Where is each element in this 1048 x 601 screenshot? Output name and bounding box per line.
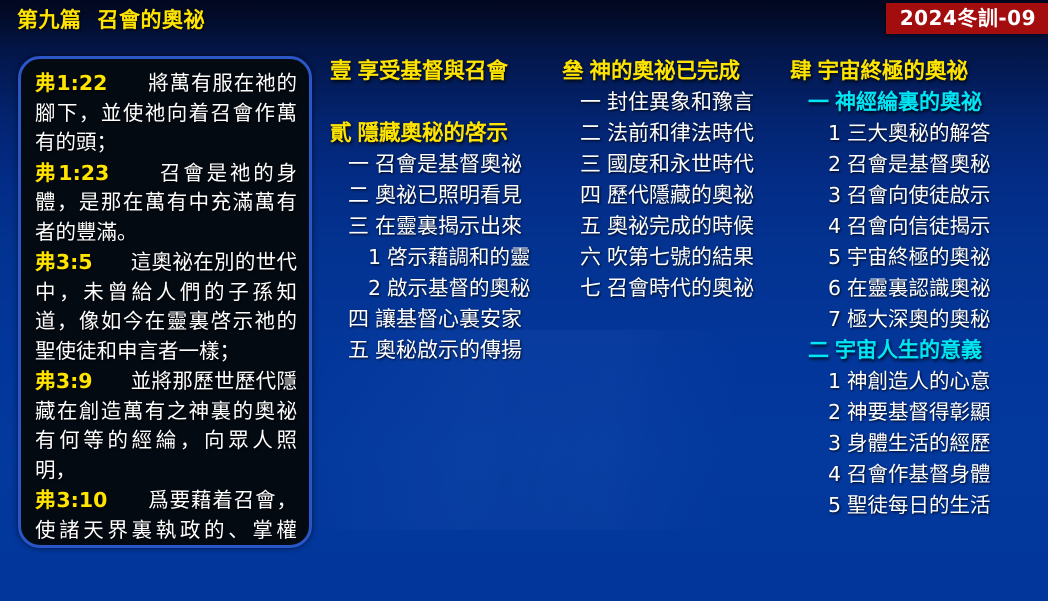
outline-column-2: 壹享受基督與召會貳隱藏奧秘的啓示一召會是基督奧祕二奧祕已照明看見三在靈裏揭示出來… (330, 56, 558, 366)
verse-reference: 弗3:10 (35, 488, 107, 512)
outline-item-label: 吹第七號的結果 (607, 245, 754, 269)
outline-item: 2召會是基督奧秘 (790, 149, 1040, 180)
outline-item: 五奧秘啟示的傳揚 (330, 335, 558, 366)
outline-item-label: 啟示基督的奧秘 (387, 276, 531, 300)
outline-item-label: 奧秘啟示的傳揚 (375, 338, 522, 362)
outline-item-label: 歷代隱藏的奧祕 (607, 183, 754, 207)
outline-item-marker: 二 (348, 183, 369, 207)
outline-item-marker: 5 (828, 245, 841, 269)
outline-item: 肆宇宙終極的奧祕 (790, 56, 1040, 87)
outline-item: 3身體生活的經歷 (790, 428, 1040, 459)
outline-item-marker: 二 (808, 338, 829, 362)
outline-item-marker: 1 (368, 245, 381, 269)
outline-item: 二奧祕已照明看見 (330, 180, 558, 211)
verse-item: 弗1:23 召會是祂的身體，是那在萬有中充滿萬有者的豐滿。 (35, 159, 297, 248)
outline-item-label: 三大奧秘的解答 (847, 121, 991, 145)
outline-item-marker: 一 (808, 90, 829, 114)
outline-item-label: 神創造人的心意 (847, 369, 991, 393)
outline-item-marker: 二 (580, 121, 601, 145)
verse-item: 弗1:22 將萬有服在祂的腳下，並使祂向着召會作萬有的頭； (35, 69, 297, 158)
outline-item: 2神要基督得彰顯 (790, 397, 1040, 428)
outline-item: 二宇宙人生的意義 (790, 335, 1040, 366)
outline-item: 6在靈裏認識奧祕 (790, 273, 1040, 304)
verse-reference: 弗3:9 (35, 369, 93, 393)
outline-item-label: 國度和永世時代 (607, 152, 754, 176)
outline-item: 5聖徒每日的生活 (790, 490, 1040, 521)
outline-item: 5宇宙終極的奧祕 (790, 242, 1040, 273)
lesson-title: 召會的奧祕 (98, 8, 206, 32)
verse-reference: 弗1:23 (35, 161, 109, 185)
outline-item-marker: 2 (368, 276, 381, 300)
outline-item-label: 奧祕已照明看見 (375, 183, 522, 207)
verse-gap (97, 369, 131, 393)
outline-item-marker: 五 (580, 214, 601, 238)
outline-column-4: 肆宇宙終極的奧祕一神經綸裏的奧祕1三大奧秘的解答2召會是基督奧秘3召會向使徒啟示… (790, 56, 1040, 521)
verse-reference: 弗1:22 (35, 71, 107, 95)
outline-item-marker: 三 (580, 152, 601, 176)
outline-item: 一神經綸裏的奧祕 (790, 87, 1040, 118)
outline-item-label: 召會向使徒啟示 (847, 183, 991, 207)
outline-item-marker: 7 (828, 307, 841, 331)
outline-item-label: 召會作基督身體 (847, 462, 991, 486)
verse-list: 弗1:22 將萬有服在祂的腳下，並使祂向着召會作萬有的頭；弗1:23 召會是祂的… (35, 69, 297, 548)
outline-item-marker: 4 (828, 214, 841, 238)
outline-item-marker: 3 (828, 431, 841, 455)
outline-item-marker: 6 (828, 276, 841, 300)
outline-item-marker: 四 (348, 307, 369, 331)
outline-item-label: 封住異象和豫言 (607, 90, 754, 114)
outline-item-marker: 叄 (562, 59, 584, 84)
outline-item-label: 在靈裏揭示出來 (375, 214, 522, 238)
outline-item-label: 召會向信徒揭示 (847, 214, 991, 238)
outline-item: 四歷代隱藏的奧祕 (562, 180, 792, 211)
outline-item-label: 隱藏奧秘的啓示 (358, 121, 509, 146)
scripture-panel: 弗1:22 將萬有服在祂的腳下，並使祂向着召會作萬有的頭；弗1:23 召會是祂的… (18, 56, 312, 548)
outline-item-marker: 壹 (330, 59, 352, 84)
outline-item-label: 聖徒每日的生活 (847, 493, 991, 517)
outline-item-marker: 六 (580, 245, 601, 269)
outline-item-marker: 2 (828, 152, 841, 176)
outline-item-label: 極大深奧的奧秘 (847, 307, 991, 331)
outline-item-marker: 五 (348, 338, 369, 362)
outline-item: 五奧祕完成的時候 (562, 211, 792, 242)
outline-item: 六吹第七號的結果 (562, 242, 792, 273)
outline-item-marker: 4 (828, 462, 841, 486)
outline-item-label: 奧祕完成的時候 (607, 214, 754, 238)
outline-item-marker: 七 (580, 276, 601, 300)
outline-item-marker: 四 (580, 183, 601, 207)
outline-item-label: 宇宙人生的意義 (835, 338, 982, 362)
outline-item-label: 召會是基督奧秘 (847, 152, 991, 176)
outline-item: 四讓基督心裏安家 (330, 304, 558, 335)
outline-item-label: 神的奧祕已完成 (590, 59, 741, 84)
outline-item-label: 享受基督與召會 (358, 59, 509, 84)
slide-header: 第九篇召會的奧祕 2024冬訓-09 (0, 0, 1048, 42)
outline-item-marker: 一 (348, 152, 369, 176)
outline-item: 2啟示基督的奧秘 (330, 273, 558, 304)
outline-item-label: 召會是基督奧祕 (375, 152, 522, 176)
outline-item-marker: 三 (348, 214, 369, 238)
outline-item: 三國度和永世時代 (562, 149, 792, 180)
outline-item: 一召會是基督奧祕 (330, 149, 558, 180)
outline-item: 叄神的奧祕已完成 (562, 56, 792, 87)
outline-item-marker: 肆 (790, 59, 812, 84)
outline-item: 3召會向使徒啟示 (790, 180, 1040, 211)
verse-gap (113, 161, 160, 185)
outline-item-marker: 2 (828, 400, 841, 424)
outline-item: 一封住異象和豫言 (562, 87, 792, 118)
verse-gap (111, 488, 148, 512)
outline-item-label: 法前和律法時代 (607, 121, 754, 145)
outline-item: 4召會向信徒揭示 (790, 211, 1040, 242)
outline-item-label: 宇宙終極的奧祕 (818, 59, 969, 84)
outline-item: 七召會時代的奧祕 (562, 273, 792, 304)
outline-item-label: 身體生活的經歷 (847, 431, 991, 455)
outline-item-label: 神要基督得彰顯 (847, 400, 991, 424)
verse-item: 弗3:10 爲要藉着召會，使諸天界裏執政的、掌權的，現今得知神萬般的智慧， (35, 486, 297, 548)
outline-item-label: 在靈裏認識奧祕 (847, 276, 991, 300)
page-title: 第九篇召會的奧祕 (17, 4, 205, 34)
verse-gap (97, 250, 131, 274)
outline-item: 7極大深奧的奧秘 (790, 304, 1040, 335)
outline-item: 三在靈裏揭示出來 (330, 211, 558, 242)
outline-item: 1三大奧秘的解答 (790, 118, 1040, 149)
verse-reference: 弗3:5 (35, 250, 93, 274)
outline-item: 1神創造人的心意 (790, 366, 1040, 397)
outline-item-marker: 一 (580, 90, 601, 114)
verse-gap (111, 71, 148, 95)
verse-item: 弗3:9 並將那歷世歷代隱藏在創造萬有之神裏的奧祕有何等的經綸，向眾人照明， (35, 367, 297, 485)
outline-item-marker: 5 (828, 493, 841, 517)
outline-item-label: 讓基督心裏安家 (375, 307, 522, 331)
outline-item: 二法前和律法時代 (562, 118, 792, 149)
verse-item: 弗3:5 這奧祕在別的世代中，未曾給人們的子孫知道，像如今在靈裏啓示祂的聖使徒和… (35, 248, 297, 366)
outline-item-marker: 3 (828, 183, 841, 207)
outline-item: 4召會作基督身體 (790, 459, 1040, 490)
outline-item-marker: 貳 (330, 121, 352, 146)
outline-item: 1啓示藉調和的靈 (330, 242, 558, 273)
outline-item-marker: 1 (828, 369, 841, 393)
outline-item-label: 神經綸裏的奧祕 (835, 90, 982, 114)
outline-item-label: 召會時代的奧祕 (607, 276, 754, 300)
outline-item-label: 宇宙終極的奧祕 (847, 245, 991, 269)
outline-item-label: 啓示藉調和的靈 (387, 245, 531, 269)
status-badge: 2024冬訓-09 (886, 3, 1048, 34)
outline-item: 貳隱藏奧秘的啓示 (330, 118, 558, 149)
outline-item-marker: 1 (828, 121, 841, 145)
outline-spacer (330, 87, 558, 118)
outline-item: 壹享受基督與召會 (330, 56, 558, 87)
lesson-number: 第九篇 (17, 8, 82, 32)
outline-column-3: 叄神的奧祕已完成一封住異象和豫言二法前和律法時代三國度和永世時代四歷代隱藏的奧祕… (562, 56, 792, 304)
slide-root: 第九篇召會的奧祕 2024冬訓-09 弗1:22 將萬有服在祂的腳下，並使祂向着… (0, 0, 1048, 601)
